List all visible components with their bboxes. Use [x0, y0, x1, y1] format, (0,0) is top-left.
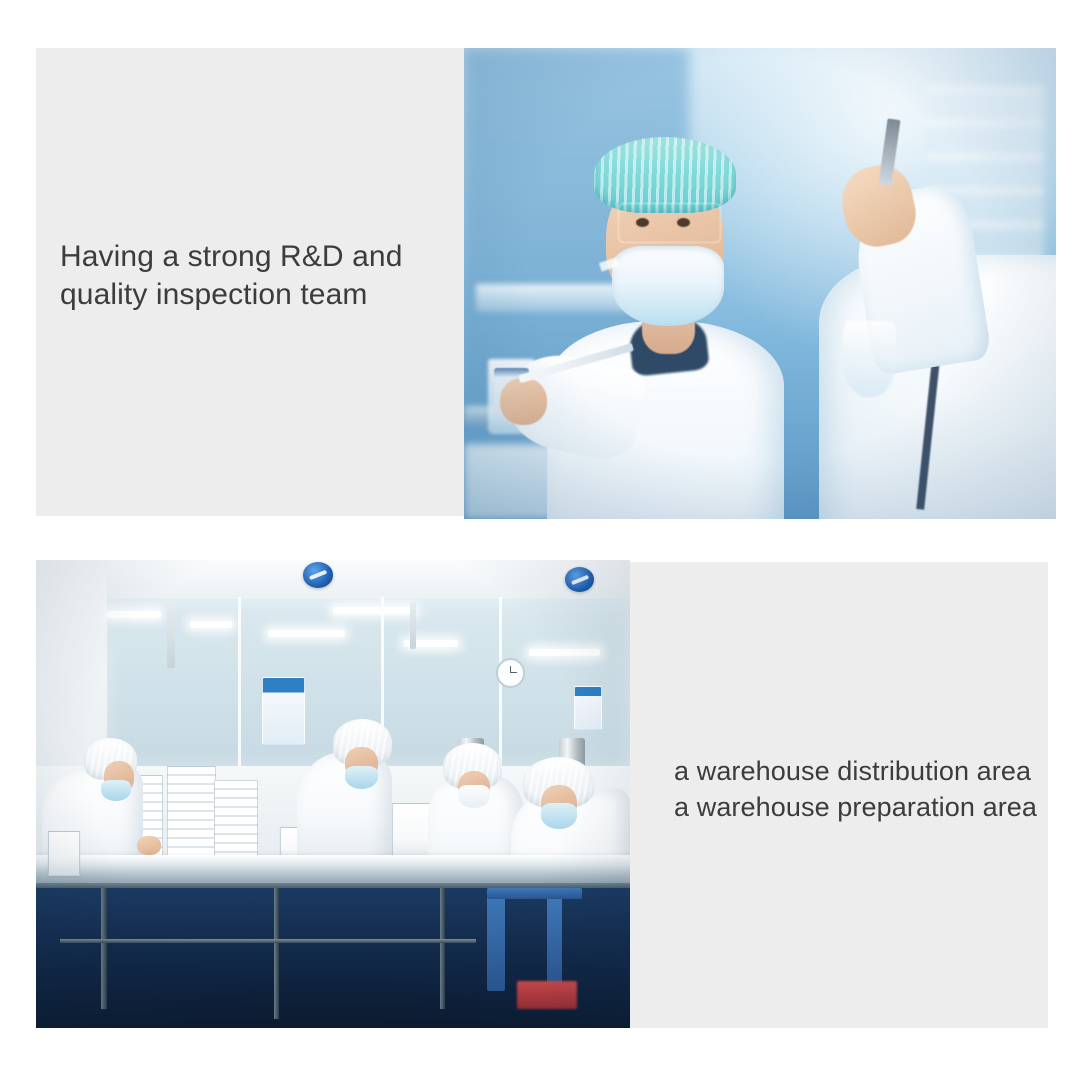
caption-warehouse: a warehouse distribution area a warehous…: [674, 754, 1044, 825]
warehouse-scene: [36, 560, 630, 1028]
caption-line-1: a warehouse distribution area: [674, 754, 1044, 790]
lab-quality-inspection-photo: [464, 48, 1056, 519]
lab-vignette: [464, 48, 1056, 519]
caption-line-1: Having a strong R&D and: [60, 238, 452, 276]
lab-scene: [464, 48, 1056, 519]
caption-line-2: a warehouse preparation area: [674, 790, 1044, 826]
section-warehouse: a warehouse distribution area a warehous…: [36, 560, 1048, 1028]
caption-panel-bottom: a warehouse distribution area a warehous…: [630, 562, 1048, 1028]
warehouse-vignette: [36, 560, 630, 1028]
warehouse-packing-photo: [36, 560, 630, 1028]
caption-panel-top: Having a strong R&D and quality inspecti…: [36, 48, 464, 516]
section-rnd-quality: Having a strong R&D and quality inspecti…: [36, 48, 1056, 520]
caption-rnd-quality: Having a strong R&D and quality inspecti…: [60, 238, 452, 315]
caption-line-2: quality inspection team: [60, 276, 452, 314]
banner-page: Having a strong R&D and quality inspecti…: [0, 0, 1080, 1080]
